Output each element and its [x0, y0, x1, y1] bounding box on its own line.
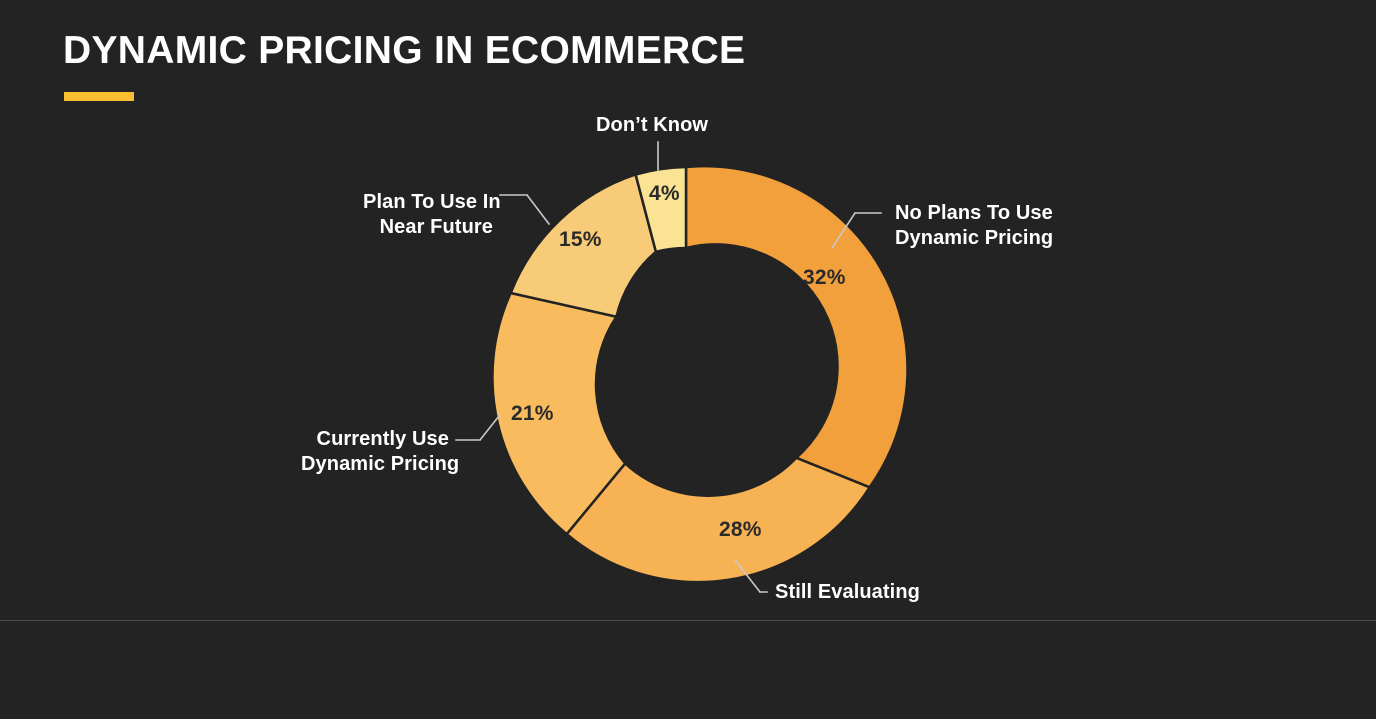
slice-value-plan-to-use: 15%	[559, 228, 602, 252]
callout-still-evaluating-line1: Still Evaluating	[775, 580, 920, 605]
callout-no-plans-line1: No Plans To Use	[895, 201, 1053, 226]
infographic-canvas: DYNAMIC PRICING IN ECOMMERCE	[0, 0, 1376, 719]
footer: VAIMO CORE OF COMMERCE Source:SearchNode…	[0, 621, 1376, 719]
slice-value-still-evaluating: 28%	[719, 518, 762, 542]
callout-dont-know: Don’t Know	[596, 113, 708, 138]
callout-dont-know-line1: Don’t Know	[596, 113, 708, 138]
slice-value-no-plans: 32%	[803, 266, 846, 290]
donut-chart-svg	[0, 0, 1376, 620]
callout-plan-to-use: Plan To Use In Near Future	[363, 190, 493, 240]
callout-plan-to-use-line2: Near Future	[363, 215, 493, 240]
callout-no-plans-line2: Dynamic Pricing	[895, 226, 1053, 251]
callout-currently-use-line1: Currently Use	[301, 427, 449, 452]
slice-value-currently-use: 21%	[511, 402, 554, 426]
donut-slice-no-plans[interactable]	[686, 166, 908, 487]
slice-value-dont-know: 4%	[649, 182, 680, 206]
callout-no-plans: No Plans To Use Dynamic Pricing	[895, 201, 1053, 251]
callout-plan-to-use-line1: Plan To Use In	[363, 190, 493, 215]
donut-chart: Don’t Know No Plans To Use Dynamic Prici…	[0, 0, 1376, 620]
callout-still-evaluating: Still Evaluating	[775, 580, 920, 605]
leader-line-currently-use	[456, 416, 499, 440]
leader-line-plan-future	[500, 195, 549, 224]
callout-currently-use: Currently Use Dynamic Pricing	[301, 427, 449, 477]
callout-currently-use-line2: Dynamic Pricing	[301, 452, 449, 477]
